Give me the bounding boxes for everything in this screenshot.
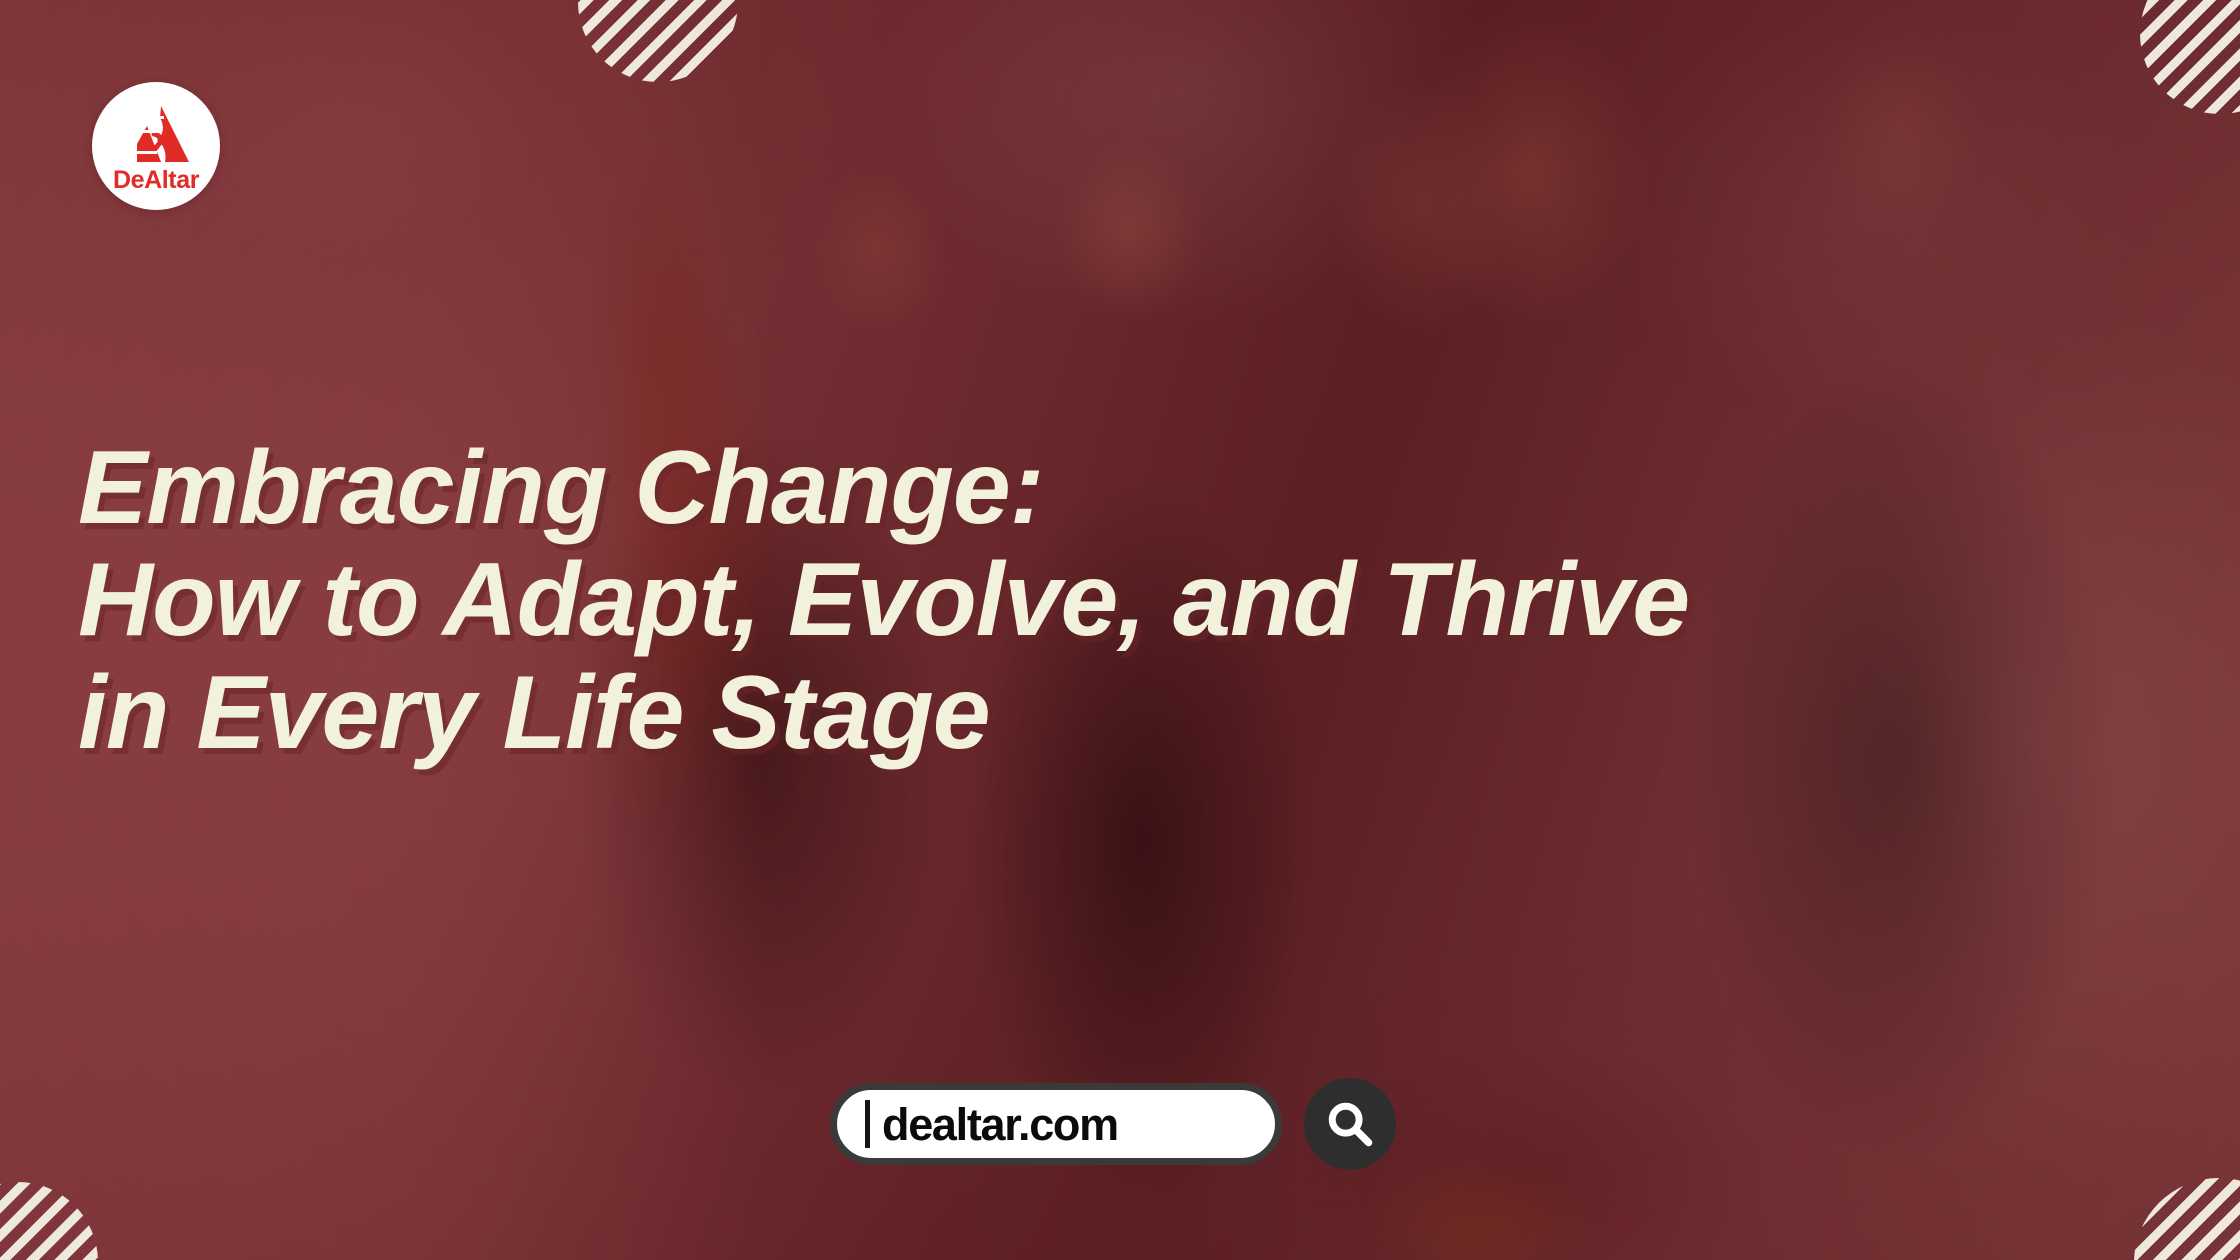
headline-line-3: in Every Life Stage bbox=[78, 657, 2138, 769]
logo-wordmark: DeAltar bbox=[113, 168, 199, 193]
search-icon bbox=[1324, 1098, 1376, 1150]
page-title: Embracing Change: How to Adapt, Evolve, … bbox=[78, 432, 2138, 769]
headline-line-1: Embracing Change: bbox=[78, 432, 2138, 544]
search-input-value: dealtar.com bbox=[882, 1102, 1118, 1147]
search-button[interactable] bbox=[1304, 1078, 1396, 1170]
dealtar-mountain-a-icon bbox=[121, 104, 191, 166]
headline-line-2: How to Adapt, Evolve, and Thrive bbox=[78, 544, 2138, 656]
brand-logo[interactable]: DeAltar bbox=[92, 82, 220, 210]
text-cursor bbox=[865, 1100, 870, 1148]
search-bar: dealtar.com bbox=[830, 1078, 1396, 1170]
blog-banner: DeAltar Embracing Change: How to Adapt, … bbox=[0, 0, 2240, 1260]
search-input[interactable]: dealtar.com bbox=[830, 1083, 1282, 1165]
